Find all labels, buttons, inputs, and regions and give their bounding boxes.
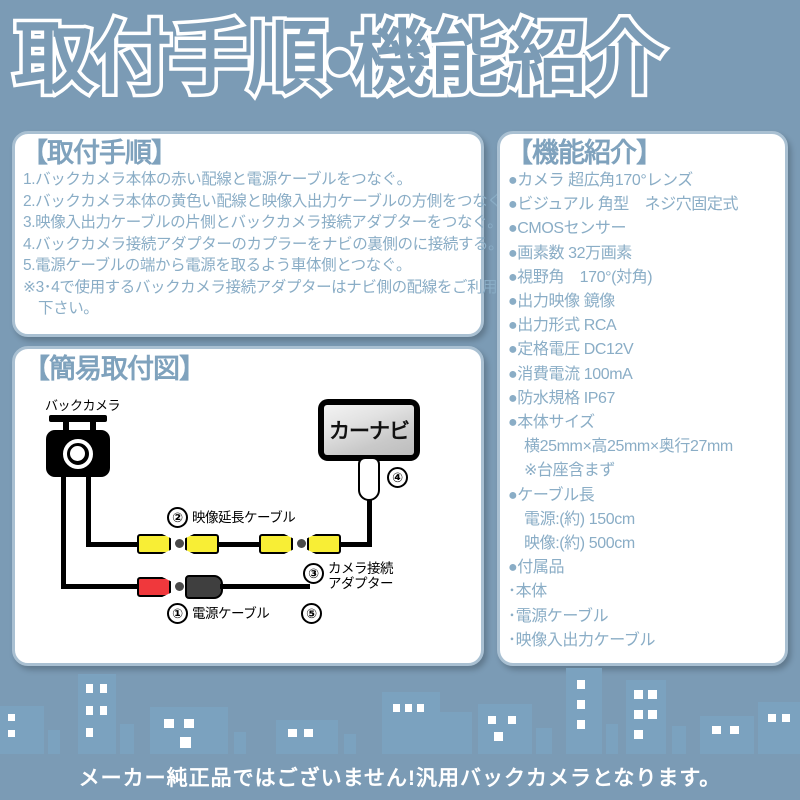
disclaimer-banner: メーカー純正品ではございません!汎用バックカメラとなります。	[0, 754, 800, 800]
spec-subitem: ※台座含まず	[508, 459, 785, 483]
power-output-wire	[220, 584, 310, 589]
spec-text: CMOSセンサー	[517, 220, 626, 237]
skyline-building	[234, 732, 246, 754]
power-pin	[175, 582, 184, 591]
skyline-window	[100, 684, 107, 693]
skyline-building	[758, 702, 800, 754]
skyline-window	[648, 710, 657, 719]
skyline-building	[606, 724, 618, 754]
spec-bullet: ●	[508, 366, 517, 383]
page-title: 取付手順・機能紹介	[14, 19, 663, 99]
skyline-window	[494, 732, 503, 741]
spec-item: ●画素数 32万画素	[508, 242, 785, 266]
step-item: 2.バックカメラ本体の黄色い配線と映像入出力ケーブルの方側をつなぐ。	[23, 191, 481, 213]
spec-item: ●本体サイズ	[508, 411, 785, 435]
camera-bracket-icon	[49, 415, 107, 422]
features-panel: 【機能紹介】 ●カメラ 超広角170°レンズ ●ビジュアル 角型 ネジ穴固定式 …	[497, 131, 788, 666]
step-item: 3.映像入出力ケーブルの片側とバックカメラ接続アダプターをつなぐ。	[23, 212, 481, 234]
spec-item: ●防水規格 IP67	[508, 387, 785, 411]
disclaimer-text: メーカー純正品ではございません!汎用バックカメラとなります。	[79, 762, 722, 792]
callout-4-number: ④	[387, 467, 408, 488]
skyline-window	[86, 684, 93, 693]
callout-2-number: ②	[167, 507, 188, 528]
skyline-window	[634, 690, 643, 699]
spec-bullet: ●	[508, 341, 517, 358]
wiring-diagram-heading: 【簡易取付図】	[23, 354, 481, 384]
skyline-window	[100, 706, 107, 715]
callout-1-number: ①	[167, 603, 188, 624]
skyline-building	[344, 734, 356, 754]
skyline-window	[782, 714, 790, 722]
spec-text: 本体サイズ	[517, 414, 595, 431]
spec-subitem: 電源:(約) 150cm	[508, 508, 785, 532]
skyline-window	[164, 719, 174, 728]
video-plug-female-2	[307, 534, 341, 554]
spec-bullet: ●	[508, 317, 517, 334]
skyline-building	[120, 724, 134, 754]
skyline-building	[700, 716, 754, 754]
skyline-building	[440, 712, 472, 754]
spec-accessory: ･映像入出力ケーブル	[508, 629, 785, 653]
spec-bullet: ●	[508, 245, 517, 262]
features-heading: 【機能紹介】	[506, 138, 785, 168]
spec-text: 視野角 170°(対角)	[517, 269, 652, 286]
video-plug-male-2	[259, 534, 293, 554]
spec-text: 定格電圧 DC12V	[517, 341, 633, 358]
skyline-window	[86, 706, 93, 715]
callout-5-number: ⑤	[301, 603, 322, 624]
skyline-window	[768, 714, 776, 722]
callout-3-label-line2: アダプター	[328, 576, 393, 591]
spec-bullet: ●	[508, 414, 517, 431]
spec-bullet: ●	[508, 293, 517, 310]
spec-bullet: ●	[508, 269, 517, 286]
spec-text: ビジュアル 角型 ネジ穴固定式	[517, 196, 738, 213]
spec-bullet: ●	[508, 172, 517, 189]
skyline-window	[8, 730, 15, 737]
callout-1-label: 電源ケーブル	[192, 606, 269, 621]
skyline-window	[577, 680, 585, 689]
skyline-window	[8, 714, 15, 721]
spec-item: ●出力形式 RCA	[508, 314, 785, 338]
skyline-window	[405, 704, 412, 712]
camera-lens-center-icon	[70, 446, 85, 461]
skyline-building	[48, 730, 60, 754]
skyline-building	[0, 706, 44, 754]
skyline-window	[86, 728, 93, 737]
skyline-window	[508, 716, 516, 724]
city-skyline-graphic	[0, 666, 800, 754]
spec-text: 出力形式 RCA	[517, 317, 616, 334]
spec-text: ケーブル長	[517, 487, 594, 504]
video-wire-vertical	[86, 477, 91, 547]
skyline-building	[78, 674, 116, 754]
spec-bullet: ●	[508, 390, 517, 407]
spec-accessory: ･本体	[508, 580, 785, 604]
camera-label: バックカメラ	[45, 395, 120, 414]
step-item: 1.バックカメラ本体の赤い配線と電源ケーブルをつなぐ。	[23, 169, 481, 191]
skyline-window	[488, 716, 496, 724]
spec-text: 画素数 32万画素	[517, 245, 632, 262]
step-item: 5.電源ケーブルの端から電源を取るよう車体側とつなぐ。	[23, 255, 481, 277]
skyline-building	[626, 680, 666, 754]
callout-3-number: ③	[303, 563, 324, 584]
spec-text: カメラ 超広角170°レンズ	[517, 172, 693, 189]
spec-item: ●カメラ 超広角170°レンズ	[508, 169, 785, 193]
spec-item: ●視野角 170°(対角)	[508, 266, 785, 290]
spec-subitem: 映像:(約) 500cm	[508, 532, 785, 556]
step-note-continuation: 下さい。	[23, 298, 481, 320]
skyline-window	[577, 720, 585, 729]
skyline-building	[276, 720, 338, 754]
spec-accessory: ･電源ケーブル	[508, 605, 785, 629]
car-navigation-label: カーナビ	[329, 415, 409, 445]
spec-item: ●出力映像 鏡像	[508, 290, 785, 314]
callout-2-label: 映像延長ケーブル	[192, 510, 295, 525]
spec-item: ●消費電流 100mA	[508, 363, 785, 387]
infographic-page: 取付手順・機能紹介 【取付手順】 1.バックカメラ本体の赤い配線と電源ケーブルを…	[0, 0, 800, 800]
skyline-window	[577, 700, 585, 709]
spec-text: 防水規格 IP67	[517, 390, 615, 407]
skyline-window	[634, 710, 643, 719]
spec-bullet: ●	[508, 559, 517, 576]
video-plug-female-1	[185, 534, 219, 554]
spec-text: 消費電流 100mA	[517, 366, 632, 383]
video-extension-wire	[218, 542, 261, 547]
video-pin-2	[297, 539, 306, 548]
video-pin-1	[175, 539, 184, 548]
skyline-window	[393, 704, 400, 712]
features-list: ●カメラ 超広角170°レンズ ●ビジュアル 角型 ネジ穴固定式 ●CMOSセン…	[508, 169, 785, 653]
spec-item: ●ビジュアル 角型 ネジ穴固定式	[508, 193, 785, 217]
skyline-window	[180, 737, 191, 748]
skyline-building	[566, 668, 602, 754]
installation-steps-panel: 【取付手順】 1.バックカメラ本体の赤い配線と電源ケーブルをつなぐ。 2.バック…	[12, 131, 484, 337]
skyline-building	[382, 692, 440, 754]
spec-item: ●CMOSセンサー	[508, 217, 785, 241]
step-note: ※3･4で使用するバックカメラ接続アダプターはナビ側の配線をご利用	[23, 277, 481, 299]
spec-item: ●付属品	[508, 556, 785, 580]
installation-steps-heading: 【取付手順】	[21, 138, 481, 168]
spec-bullet: ●	[508, 487, 517, 504]
power-plug-red	[137, 577, 171, 597]
installation-steps-list: 1.バックカメラ本体の赤い配線と電源ケーブルをつなぐ。 2.バックカメラ本体の黄…	[23, 169, 481, 320]
skyline-building	[150, 707, 228, 754]
skyline-window	[417, 704, 424, 712]
skyline-building	[536, 728, 552, 754]
wiring-diagram-panel: 【簡易取付図】 バックカメラ ② 映像延長ケーブル	[12, 346, 484, 666]
spec-bullet: ●	[508, 220, 517, 237]
skyline-window	[288, 729, 297, 737]
skyline-window	[730, 726, 739, 734]
skyline-window	[712, 726, 721, 734]
spec-bullet: ●	[508, 196, 517, 213]
skyline-window	[634, 730, 643, 739]
spec-subitem: 横25mm×高25mm×奥行27mm	[508, 435, 785, 459]
power-plug-dark	[185, 575, 223, 599]
skyline-window	[648, 690, 657, 699]
car-navigation-unit: カーナビ	[318, 399, 420, 461]
power-wire-vertical	[61, 477, 66, 589]
skyline-building	[672, 726, 686, 754]
video-plug-male-1	[137, 534, 171, 554]
car-navigation-screen: カーナビ	[324, 405, 414, 455]
spec-item: ●ケーブル長	[508, 484, 785, 508]
spec-text: 付属品	[517, 559, 564, 576]
spec-item: ●定格電圧 DC12V	[508, 338, 785, 362]
callout-3-label-line1: カメラ接続	[328, 561, 393, 576]
skyline-window	[184, 719, 194, 728]
nav-coupler-plug	[358, 457, 380, 501]
header-banner: 取付手順・機能紹介	[0, 0, 800, 118]
skyline-window	[304, 729, 313, 737]
spec-text: 出力映像 鏡像	[517, 293, 615, 310]
skyline-building	[478, 704, 532, 754]
step-item: 4.バックカメラ接続アダプターのカプラーをナビの裏側のに接続する。	[23, 234, 481, 256]
wiring-diagram-canvas: バックカメラ ② 映像延長ケーブル	[15, 383, 487, 669]
